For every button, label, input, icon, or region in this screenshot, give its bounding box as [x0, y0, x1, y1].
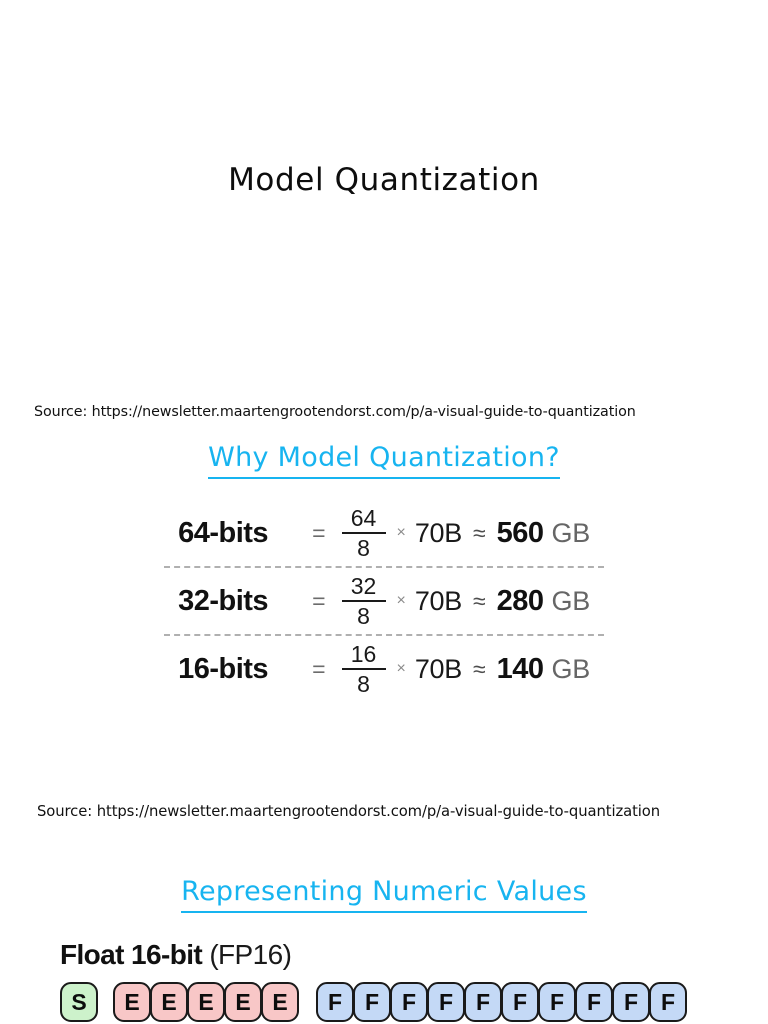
exponent-bit-group: EEEEE — [113, 982, 298, 1022]
memory-size-unit: GB — [552, 518, 590, 549]
multiply-sign: × — [397, 524, 406, 542]
section-heading-why-model-quantization: Why Model Quantization? — [0, 440, 768, 479]
fraction-bit: F — [316, 982, 354, 1022]
exponent-bit: E — [224, 982, 262, 1022]
fraction-denominator: 8 — [357, 534, 370, 560]
formula-bits-label: 16-bits — [178, 653, 306, 686]
approximately-sign: ≈ — [473, 520, 486, 547]
memory-size-unit: GB — [552, 654, 590, 685]
fraction-denominator: 8 — [357, 602, 370, 628]
formula-bits-label: 32-bits — [178, 585, 306, 618]
fraction-bit: F — [464, 982, 502, 1022]
fraction-bit: F — [427, 982, 465, 1022]
fraction-numerator: 32 — [346, 575, 382, 600]
formula-bits-label: 64-bits — [178, 517, 306, 550]
formula-row-16bits: 16-bits = 16 8 × 70B ≈ 140 GB — [0, 636, 768, 702]
fraction-bit: F — [649, 982, 687, 1022]
fraction: 16 8 — [342, 643, 386, 696]
formula-row-64bits: 64-bits = 64 8 × 70B ≈ 560 GB — [0, 500, 768, 566]
fraction-numerator: 64 — [346, 507, 382, 532]
sign-bit: S — [60, 982, 98, 1022]
section-heading-why-label: Why Model Quantization? — [208, 440, 560, 479]
formula-row-32bits: 32-bits = 32 8 × 70B ≈ 280 GB — [0, 568, 768, 634]
approximately-sign: ≈ — [473, 656, 486, 683]
equals-sign: = — [312, 656, 325, 683]
multiply-sign: × — [397, 660, 406, 678]
fp16-format-label: Float 16-bit (FP16) — [60, 938, 291, 972]
fraction: 32 8 — [342, 575, 386, 628]
exponent-bit: E — [150, 982, 188, 1022]
exponent-bit: E — [187, 982, 225, 1022]
parameter-count: 70B — [415, 654, 462, 685]
memory-size-value: 280 — [497, 585, 544, 618]
parameter-count: 70B — [415, 586, 462, 617]
fp16-bit-layout: S EEEEE FFFFFFFFFF — [60, 982, 686, 1022]
formula-block: 64-bits = 64 8 × 70B ≈ 560 GB 32-bits = … — [0, 500, 768, 702]
exponent-bit: E — [113, 982, 151, 1022]
fraction: 64 8 — [342, 507, 386, 560]
sign-bit-group: S — [60, 982, 97, 1022]
approximately-sign: ≈ — [473, 588, 486, 615]
page-title: Model Quantization — [0, 160, 768, 200]
source-attribution-middle: Source: https://newsletter.maartengroote… — [37, 802, 660, 822]
fraction-bit: F — [353, 982, 391, 1022]
fraction-denominator: 8 — [357, 670, 370, 696]
source-attribution-top: Source: https://newsletter.maartengroote… — [34, 402, 636, 422]
section-heading-representing-label: Representing Numeric Values — [181, 874, 587, 913]
section-heading-representing-numeric-values: Representing Numeric Values — [0, 874, 768, 913]
fraction-bit-group: FFFFFFFFFF — [316, 982, 686, 1022]
memory-size-unit: GB — [552, 586, 590, 617]
memory-size-value: 140 — [497, 653, 544, 686]
fraction-bit: F — [575, 982, 613, 1022]
fp16-label-light: (FP16) — [209, 939, 291, 970]
memory-size-value: 560 — [497, 517, 544, 550]
fraction-bit: F — [390, 982, 428, 1022]
fraction-numerator: 16 — [346, 643, 382, 668]
fraction-bit: F — [538, 982, 576, 1022]
equals-sign: = — [312, 520, 325, 547]
fraction-bit: F — [501, 982, 539, 1022]
fp16-label-bold: Float 16-bit — [60, 939, 202, 970]
fraction-bit: F — [612, 982, 650, 1022]
equals-sign: = — [312, 588, 325, 615]
parameter-count: 70B — [415, 518, 462, 549]
multiply-sign: × — [397, 592, 406, 610]
exponent-bit: E — [261, 982, 299, 1022]
